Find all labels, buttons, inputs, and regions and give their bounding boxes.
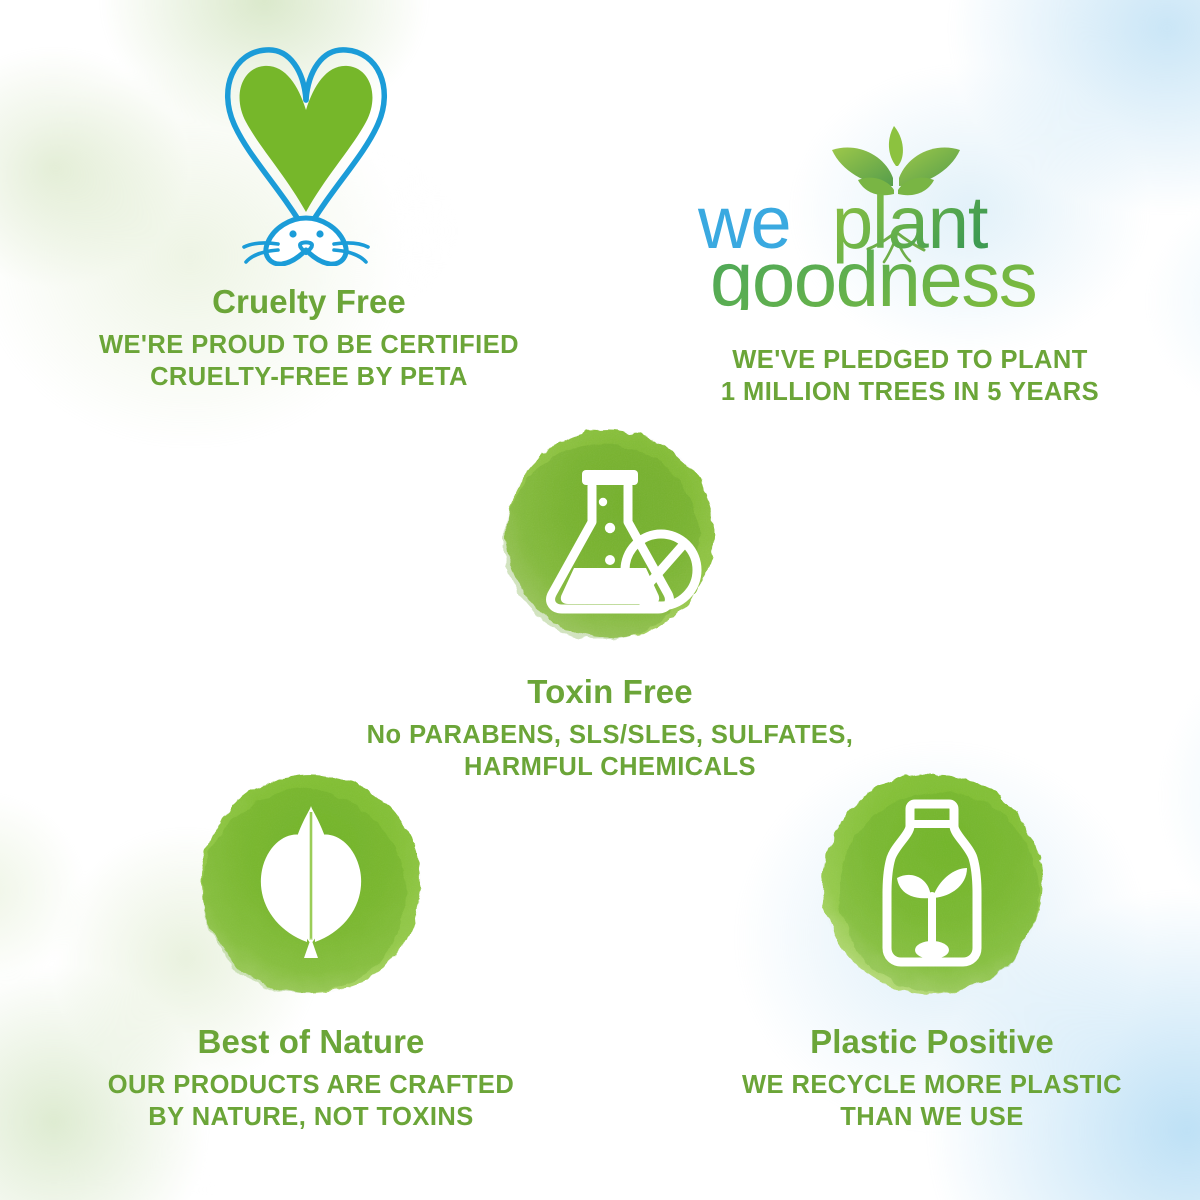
- flask-no-toxin-icon: [490, 418, 730, 656]
- badge-cruelty-free: Cruelty Free WE'RE PROUD TO BE CERTIFIED…: [36, 36, 582, 394]
- bottle-sprout-icon: [807, 762, 1057, 1012]
- badge-description-line: 1 MILLION TREES IN 5 YEARS: [640, 376, 1180, 408]
- badge-description-line: BY NATURE, NOT TOXINS: [46, 1101, 576, 1133]
- badge-description-line: WE'VE PLEDGED TO PLANT: [640, 344, 1180, 376]
- we-plant-goodness-logo: we plant goodness: [690, 120, 1130, 310]
- badge-best-of-nature: Best of Nature OUR PRODUCTS ARE CRAFTED …: [46, 762, 576, 1134]
- badge-title-cruelty-free: Cruelty Free: [36, 284, 582, 320]
- badge-description-line: OUR PRODUCTS ARE CRAFTED: [46, 1069, 576, 1101]
- three-leaves-icon: [186, 762, 436, 1012]
- badge-plastic-positive: Plastic Positive WE RECYCLE MORE PLASTIC…: [672, 762, 1192, 1134]
- logo-word-goodness: goodness: [710, 235, 1036, 310]
- we-plant-goodness-logo-wrapper: we plant goodness: [640, 120, 1180, 310]
- badge-description-best-of-nature: OUR PRODUCTS ARE CRAFTED BY NATURE, NOT …: [46, 1069, 576, 1133]
- bunny-heart-icon: [194, 36, 424, 266]
- badge-description-line: No PARABENS, SLS/SLES, SULFATES,: [320, 719, 900, 751]
- badge-title-toxin-free: Toxin Free: [320, 674, 900, 710]
- badge-description-cruelty-free: WE'RE PROUD TO BE CERTIFIED CRUELTY-FREE…: [36, 329, 582, 393]
- badge-description-line: WE RECYCLE MORE PLASTIC: [672, 1069, 1192, 1101]
- badge-we-plant-goodness: we plant goodness WE'VE PLEDGED TO PLANT…: [640, 120, 1180, 408]
- badge-description-we-plant-goodness: WE'VE PLEDGED TO PLANT 1 MILLION TREES I…: [640, 344, 1180, 408]
- badge-description-line: CRUELTY-FREE BY PETA: [36, 361, 582, 393]
- badge-description-plastic-positive: WE RECYCLE MORE PLASTIC THAN WE USE: [672, 1069, 1192, 1133]
- infographic-canvas: Cruelty Free WE'RE PROUD TO BE CERTIFIED…: [0, 0, 1200, 1200]
- badge-title-plastic-positive: Plastic Positive: [672, 1024, 1192, 1060]
- bunny-heart-icon-wrapper: [36, 36, 582, 266]
- badge-title-best-of-nature: Best of Nature: [46, 1024, 576, 1060]
- badge-description-line: THAN WE USE: [672, 1101, 1192, 1133]
- flask-no-toxin-icon-wrapper: [320, 418, 900, 656]
- badge-toxin-free: Toxin Free No PARABENS, SLS/SLES, SULFAT…: [320, 418, 900, 784]
- three-leaves-icon-wrapper: [46, 762, 576, 1012]
- bottle-sprout-icon-wrapper: [672, 762, 1192, 1012]
- badge-description-line: WE'RE PROUD TO BE CERTIFIED: [36, 329, 582, 361]
